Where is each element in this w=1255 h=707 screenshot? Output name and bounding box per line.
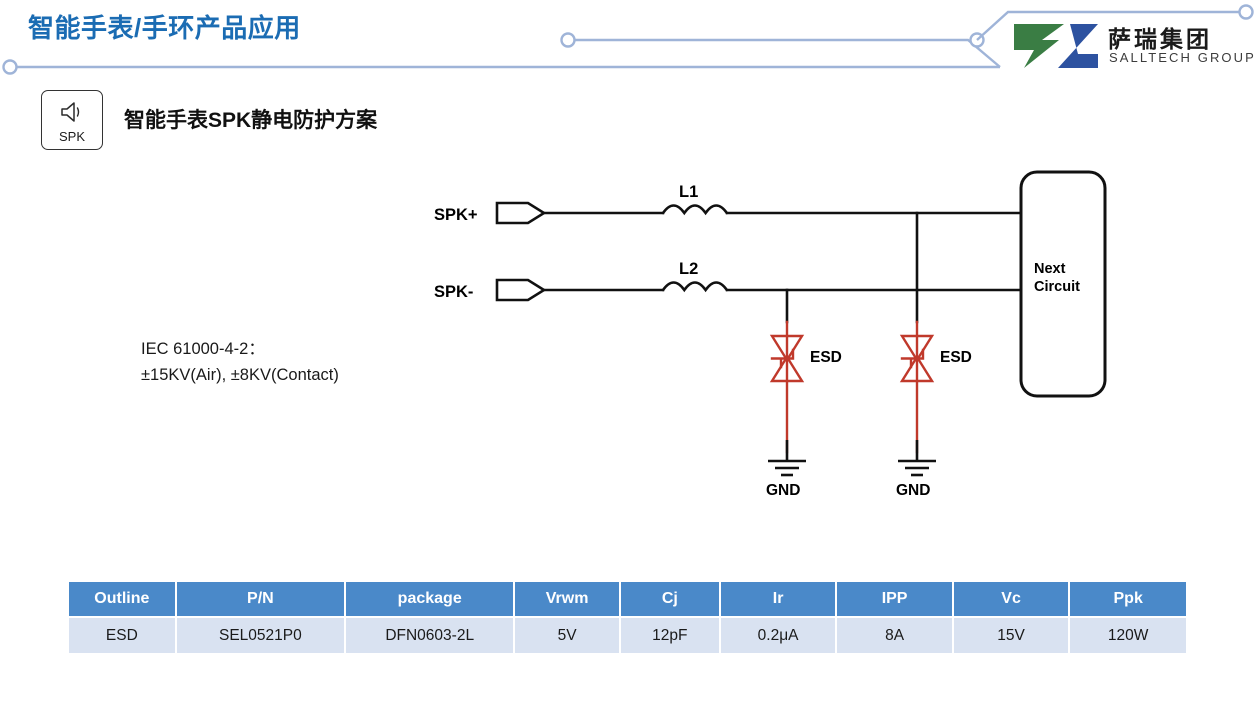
label-esd-2: ESD — [940, 349, 972, 366]
cell-outline: ESD — [69, 618, 175, 653]
cell-cj: 12pF — [621, 618, 719, 653]
label-gnd-2: GND — [896, 482, 930, 499]
port-minus-terminal — [497, 280, 544, 300]
label-esd-1: ESD — [810, 349, 842, 366]
cell-ipp: 8A — [837, 618, 952, 653]
cell-ppk: 120W — [1070, 618, 1186, 653]
col-header-ipp: IPP — [837, 582, 952, 616]
label-inductor-l2: L2 — [679, 260, 698, 278]
port-plus-terminal — [497, 203, 544, 223]
label-port-minus: SPK- — [434, 283, 473, 301]
iec-note-line2: ±15KV(Air), ±8KV(Contact) — [141, 363, 339, 389]
label-gnd-1: GND — [766, 482, 800, 499]
cell-vc: 15V — [954, 618, 1069, 653]
label-inductor-l1: L1 — [679, 183, 698, 201]
col-header-outline: Outline — [69, 582, 175, 616]
col-header-ir: Ir — [721, 582, 836, 616]
iec-note: IEC 61000-4-2： ±15KV(Air), ±8KV(Contact) — [141, 337, 339, 388]
table-header-row: Outline P/N package Vrwm Cj Ir IPP Vc Pp… — [69, 582, 1186, 616]
col-header-vc: Vc — [954, 582, 1069, 616]
label-next-circuit-line1: Next — [1034, 261, 1066, 277]
cell-pn: SEL0521P0 — [177, 618, 344, 653]
inductor-l2-coil — [663, 283, 727, 291]
cell-vrwm: 5V — [515, 618, 618, 653]
cell-ir: 0.2μA — [721, 618, 836, 653]
slide-root: 智能手表/手环产品应用 萨瑞集团 SALLTECH GROUP SPK 智能手表… — [0, 0, 1255, 707]
table-row: ESD SEL0521P0 DFN0603-2L 5V 12pF 0.2μA 8… — [69, 618, 1186, 653]
cell-package: DFN0603-2L — [346, 618, 513, 653]
col-header-ppk: Ppk — [1070, 582, 1186, 616]
label-port-plus: SPK+ — [434, 206, 478, 224]
spec-table: Outline P/N package Vrwm Cj Ir IPP Vc Pp… — [67, 580, 1188, 655]
label-next-circuit-line2: Circuit — [1034, 279, 1080, 295]
inductor-l1-coil — [663, 206, 727, 214]
col-header-package: package — [346, 582, 513, 616]
col-header-pn: P/N — [177, 582, 344, 616]
col-header-cj: Cj — [621, 582, 719, 616]
iec-note-line1: IEC 61000-4-2： — [141, 337, 339, 363]
col-header-vrwm: Vrwm — [515, 582, 618, 616]
